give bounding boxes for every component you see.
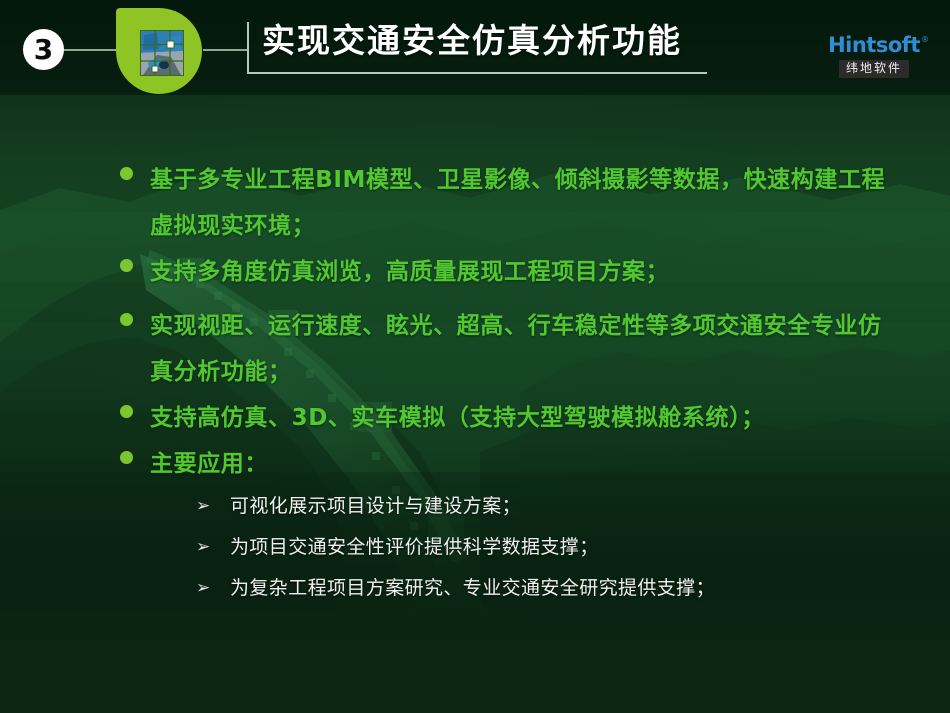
slide-content: 基于多专业工程BIM模型、卫星影像、倾斜摄影等数据，快速构建工程虚拟现实环境； … bbox=[0, 95, 950, 713]
logo-wordmark: Hintsoft® bbox=[818, 33, 930, 57]
sub-list-item: ➢ 为项目交通安全性评价提供科学数据支撑； bbox=[196, 532, 916, 562]
company-logo: Hintsoft® 纬地软件 bbox=[818, 33, 930, 85]
bullet-item: 主要应用： bbox=[120, 441, 900, 487]
sub-list-item: ➢ 为复杂工程项目方案研究、专业交通安全研究提供支撑； bbox=[196, 573, 916, 603]
leaf-icon-container bbox=[116, 8, 202, 94]
bullet-dot-icon bbox=[120, 259, 133, 272]
arrow-bullet-icon: ➢ bbox=[196, 532, 218, 562]
connector-line-left bbox=[64, 49, 120, 51]
arrow-bullet-icon: ➢ bbox=[196, 491, 218, 521]
connector-line-right bbox=[203, 49, 247, 51]
bullet-dot-icon bbox=[120, 405, 133, 418]
bullet-text: 基于多专业工程BIM模型、卫星影像、倾斜摄影等数据，快速构建工程虚拟现实环境； bbox=[150, 157, 900, 249]
sub-list-item-text: 为项目交通安全性评价提供科学数据支撑； bbox=[230, 532, 916, 562]
bullet-item: 支持高仿真、3D、实车模拟（支持大型驾驶模拟舱系统）； bbox=[120, 395, 900, 441]
registered-trademark-icon: ® bbox=[921, 28, 929, 52]
logo-brand-text: Hintsoft bbox=[828, 33, 920, 57]
bullet-item: 实现视距、运行速度、眩光、超高、行车稳定性等多项交通安全专业仿真分析功能； bbox=[120, 303, 900, 395]
bim-traffic-thumbnail-icon bbox=[140, 30, 184, 76]
sub-list-item-text: 为复杂工程项目方案研究、专业交通安全研究提供支撑； bbox=[230, 573, 916, 603]
sub-list-item-text: 可视化展示项目设计与建设方案； bbox=[230, 491, 916, 521]
slide-header: 3 bbox=[0, 0, 950, 95]
logo-chinese-name: 纬地软件 bbox=[839, 60, 909, 78]
bullet-text: 主要应用： bbox=[150, 441, 900, 487]
presentation-slide: 3 bbox=[0, 0, 950, 713]
bullet-item: 支持多角度仿真浏览，高质量展现工程项目方案； bbox=[120, 249, 900, 295]
arrow-bullet-icon: ➢ bbox=[196, 573, 218, 603]
title-underline-rule bbox=[247, 72, 707, 74]
bullet-text: 支持多角度仿真浏览，高质量展现工程项目方案； bbox=[150, 249, 900, 295]
sub-list-item: ➢ 可视化展示项目设计与建设方案； bbox=[196, 491, 916, 521]
title-left-rule bbox=[247, 22, 249, 74]
bullet-dot-icon bbox=[120, 313, 133, 326]
slide-number-badge: 3 bbox=[23, 29, 64, 70]
bullet-dot-icon bbox=[120, 451, 133, 464]
bullet-text: 实现视距、运行速度、眩光、超高、行车稳定性等多项交通安全专业仿真分析功能； bbox=[150, 303, 900, 395]
page-title: 实现交通安全仿真分析功能 bbox=[262, 19, 682, 63]
bullet-text: 支持高仿真、3D、实车模拟（支持大型驾驶模拟舱系统）； bbox=[150, 395, 900, 441]
bullet-dot-icon bbox=[120, 167, 133, 180]
bullet-item: 基于多专业工程BIM模型、卫星影像、倾斜摄影等数据，快速构建工程虚拟现实环境； bbox=[120, 157, 900, 249]
